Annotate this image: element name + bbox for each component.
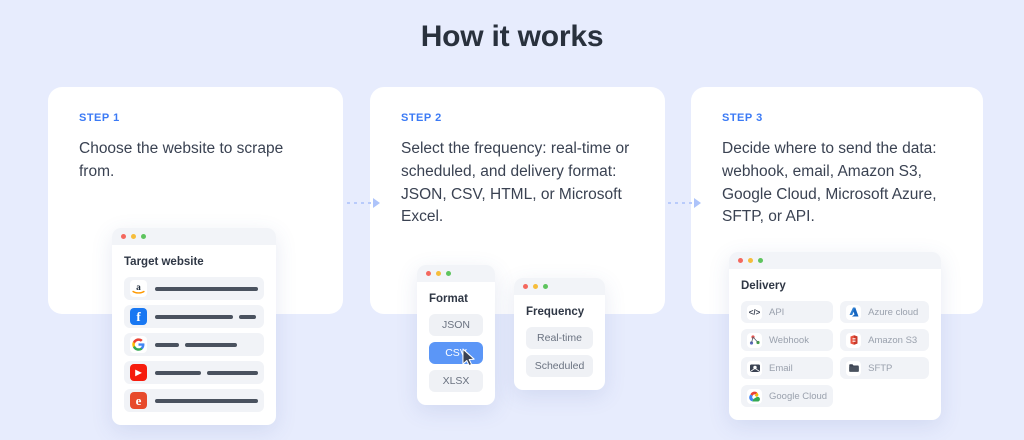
youtube-logo-icon: ▶	[130, 364, 147, 381]
delivery-option-google-cloud[interactable]: Google Cloud	[741, 385, 833, 407]
frequency-option-real-time[interactable]: Real-time	[526, 327, 593, 349]
amazon-logo-icon: a	[130, 280, 147, 297]
step-1-label: STEP 1	[79, 112, 120, 124]
target-website-title: Target website	[124, 256, 264, 268]
target-website-window: Target website a f	[112, 228, 276, 425]
row-bar	[155, 399, 258, 403]
mouse-cursor-icon	[462, 348, 477, 367]
delivery-window: Delivery </> API	[729, 252, 941, 420]
delivery-column-left: </> API Webhook	[741, 301, 833, 407]
close-dot-icon[interactable]	[523, 284, 528, 289]
format-option-xlsx[interactable]: XLSX	[429, 370, 483, 392]
list-item[interactable]: ▶	[124, 361, 264, 384]
ebay-logo-icon: e	[130, 392, 147, 409]
delivery-option-sftp-label: SFTP	[868, 363, 892, 374]
maximize-dot-icon[interactable]	[543, 284, 548, 289]
delivery-option-amazon-s3[interactable]: Amazon S3	[840, 329, 929, 351]
delivery-options-grid: </> API Webhook	[741, 301, 929, 407]
code-icon: </>	[747, 305, 762, 320]
window-title-bar	[417, 265, 495, 282]
delivery-option-azure-label: Azure cloud	[868, 307, 918, 318]
window-title-bar	[729, 252, 941, 269]
close-dot-icon[interactable]	[426, 271, 431, 276]
amazon-s3-icon	[846, 333, 861, 348]
minimize-dot-icon[interactable]	[131, 234, 136, 239]
close-dot-icon[interactable]	[738, 258, 743, 263]
dotted-line	[347, 202, 375, 204]
list-item[interactable]: f	[124, 305, 264, 328]
window-body: Target website a f	[112, 245, 276, 425]
minimize-dot-icon[interactable]	[436, 271, 441, 276]
frequency-option-scheduled[interactable]: Scheduled	[526, 355, 593, 377]
delivery-title: Delivery	[741, 280, 929, 292]
step-2-label: STEP 2	[401, 112, 442, 124]
minimize-dot-icon[interactable]	[748, 258, 753, 263]
facebook-logo-icon: f	[130, 308, 147, 325]
row-bar	[155, 371, 201, 375]
format-title: Format	[429, 293, 483, 305]
row-bar	[155, 343, 179, 347]
window-body: Format JSON CSV XLSX	[417, 282, 495, 405]
dotted-line	[668, 202, 696, 204]
delivery-option-google-cloud-label: Google Cloud	[769, 391, 827, 402]
delivery-option-sftp[interactable]: SFTP	[840, 357, 929, 379]
minimize-dot-icon[interactable]	[533, 284, 538, 289]
format-window: Format JSON CSV XLSX	[417, 265, 495, 405]
row-bar	[155, 287, 258, 291]
step-3-label: STEP 3	[722, 112, 763, 124]
how-it-works-section: How it works STEP 1 Choose the website t…	[0, 0, 1024, 440]
arrow-head-icon	[694, 198, 701, 208]
google-cloud-icon	[747, 389, 762, 404]
row-bar	[207, 371, 258, 375]
maximize-dot-icon[interactable]	[141, 234, 146, 239]
maximize-dot-icon[interactable]	[446, 271, 451, 276]
arrow-head-icon	[373, 198, 380, 208]
webhook-icon	[747, 333, 762, 348]
step-1-description: Choose the website to scrape from.	[79, 138, 319, 184]
row-bar	[185, 343, 237, 347]
delivery-column-right: Azure cloud Amazon S3	[840, 301, 929, 407]
step-2-description: Select the frequency: real-time or sched…	[401, 138, 641, 229]
list-item[interactable]	[124, 333, 264, 356]
folder-icon	[846, 361, 861, 376]
window-body: Frequency Real-time Scheduled	[514, 295, 605, 390]
step-3-description: Decide where to send the data: webhook, …	[722, 138, 959, 229]
google-logo-icon	[130, 336, 147, 353]
delivery-option-email[interactable]: Email	[741, 357, 833, 379]
window-title-bar	[514, 278, 605, 295]
delivery-option-webhook[interactable]: Webhook	[741, 329, 833, 351]
format-option-json[interactable]: JSON	[429, 314, 483, 336]
window-title-bar	[112, 228, 276, 245]
azure-icon	[846, 305, 861, 320]
list-item[interactable]: e	[124, 389, 264, 412]
window-body: Delivery </> API	[729, 269, 941, 420]
svg-text:a: a	[136, 283, 141, 293]
email-icon	[747, 361, 762, 376]
frequency-title: Frequency	[526, 306, 593, 318]
delivery-option-azure-cloud[interactable]: Azure cloud	[840, 301, 929, 323]
format-option-csv[interactable]: CSV	[429, 342, 483, 364]
delivery-option-api[interactable]: </> API	[741, 301, 833, 323]
maximize-dot-icon[interactable]	[758, 258, 763, 263]
page-title: How it works	[0, 20, 1024, 54]
row-bar	[239, 315, 256, 319]
delivery-option-amazon-s3-label: Amazon S3	[868, 335, 917, 346]
close-dot-icon[interactable]	[121, 234, 126, 239]
connector-arrow-1-to-2	[347, 198, 387, 208]
delivery-option-api-label: API	[769, 307, 784, 318]
delivery-option-webhook-label: Webhook	[769, 335, 809, 346]
frequency-window: Frequency Real-time Scheduled	[514, 278, 605, 390]
connector-arrow-2-to-3	[668, 198, 708, 208]
list-item[interactable]: a	[124, 277, 264, 300]
row-bar	[155, 315, 233, 319]
delivery-option-email-label: Email	[769, 363, 793, 374]
